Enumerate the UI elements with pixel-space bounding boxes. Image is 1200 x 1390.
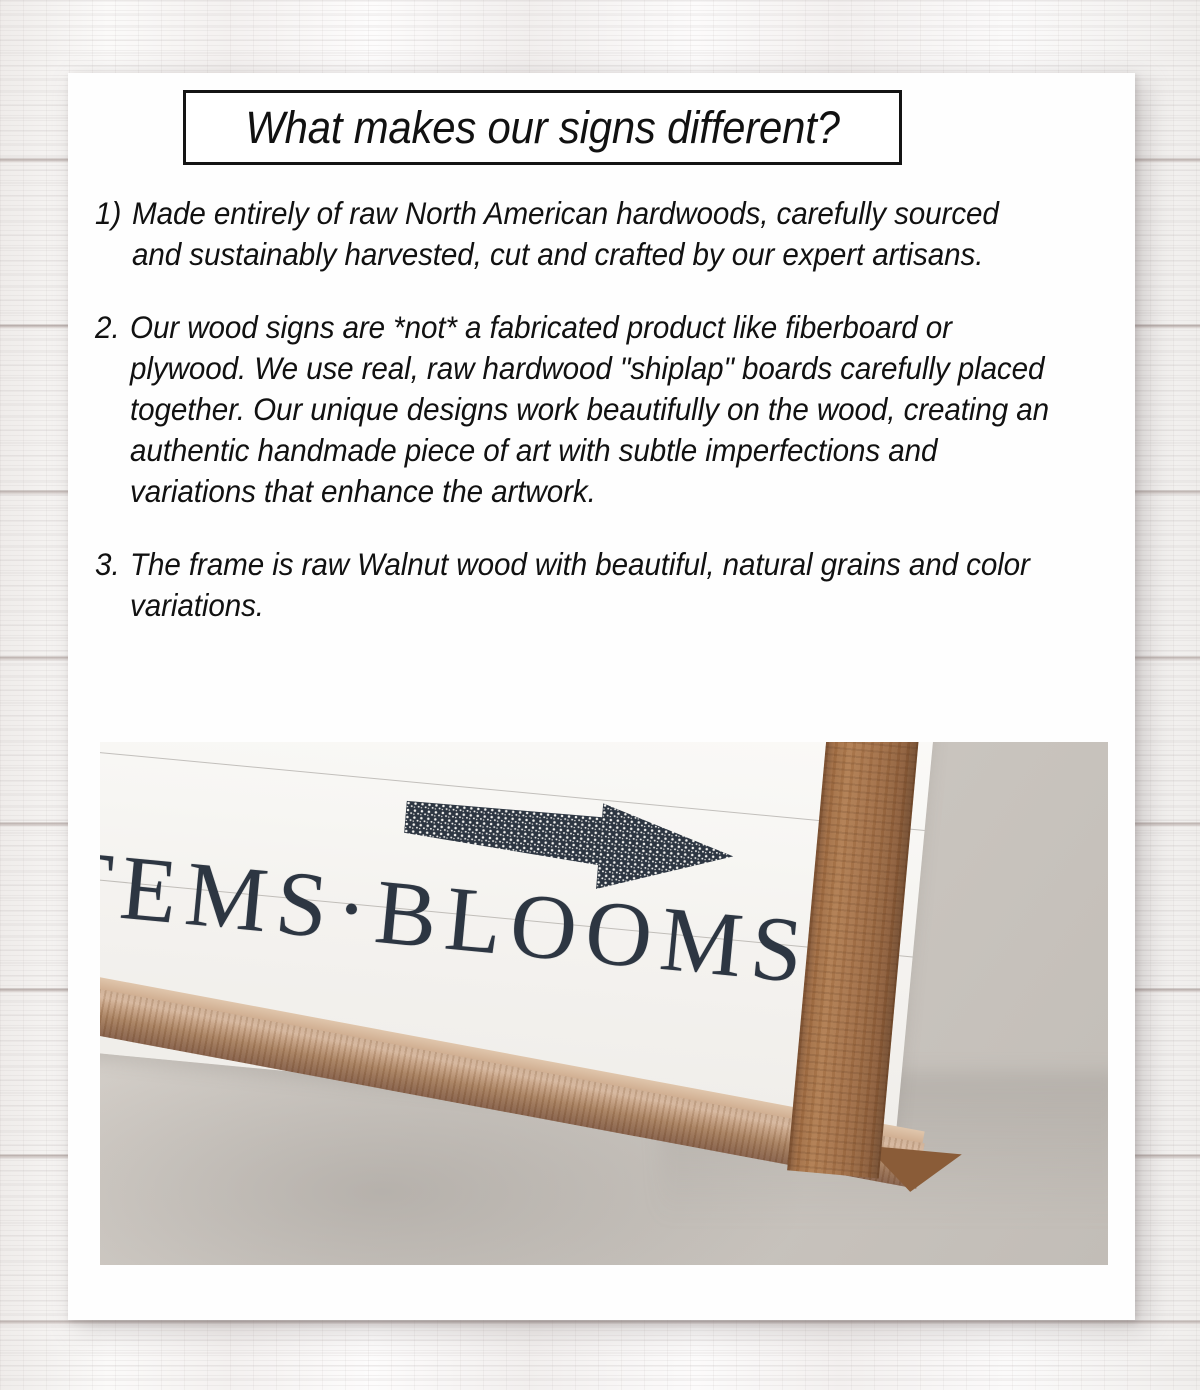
page-title: What makes our signs different? (245, 102, 839, 154)
list-item-text: Made entirely of raw North American hard… (132, 193, 1056, 275)
list-item-marker: 2. (95, 307, 128, 348)
list-item: 1) Made entirely of raw North American h… (95, 193, 1115, 275)
content-card: What makes our signs different? 1) Made … (68, 73, 1135, 1320)
list-item-marker: 3. (95, 544, 128, 585)
page-root: What makes our signs different? 1) Made … (0, 0, 1200, 1390)
product-photo: STEMS·BLOOMS (100, 742, 1108, 1265)
list-item-marker: 1) (95, 193, 130, 234)
list-item: 3. The frame is raw Walnut wood with bea… (95, 544, 1115, 626)
list-item: 2. Our wood signs are *not* a fabricated… (95, 307, 1115, 512)
list-item-text: The frame is raw Walnut wood with beauti… (130, 544, 1056, 626)
page-title-box: What makes our signs different? (183, 90, 902, 165)
feature-list: 1) Made entirely of raw North American h… (95, 193, 1115, 658)
list-item-text: Our wood signs are *not* a fabricated pr… (130, 307, 1056, 512)
